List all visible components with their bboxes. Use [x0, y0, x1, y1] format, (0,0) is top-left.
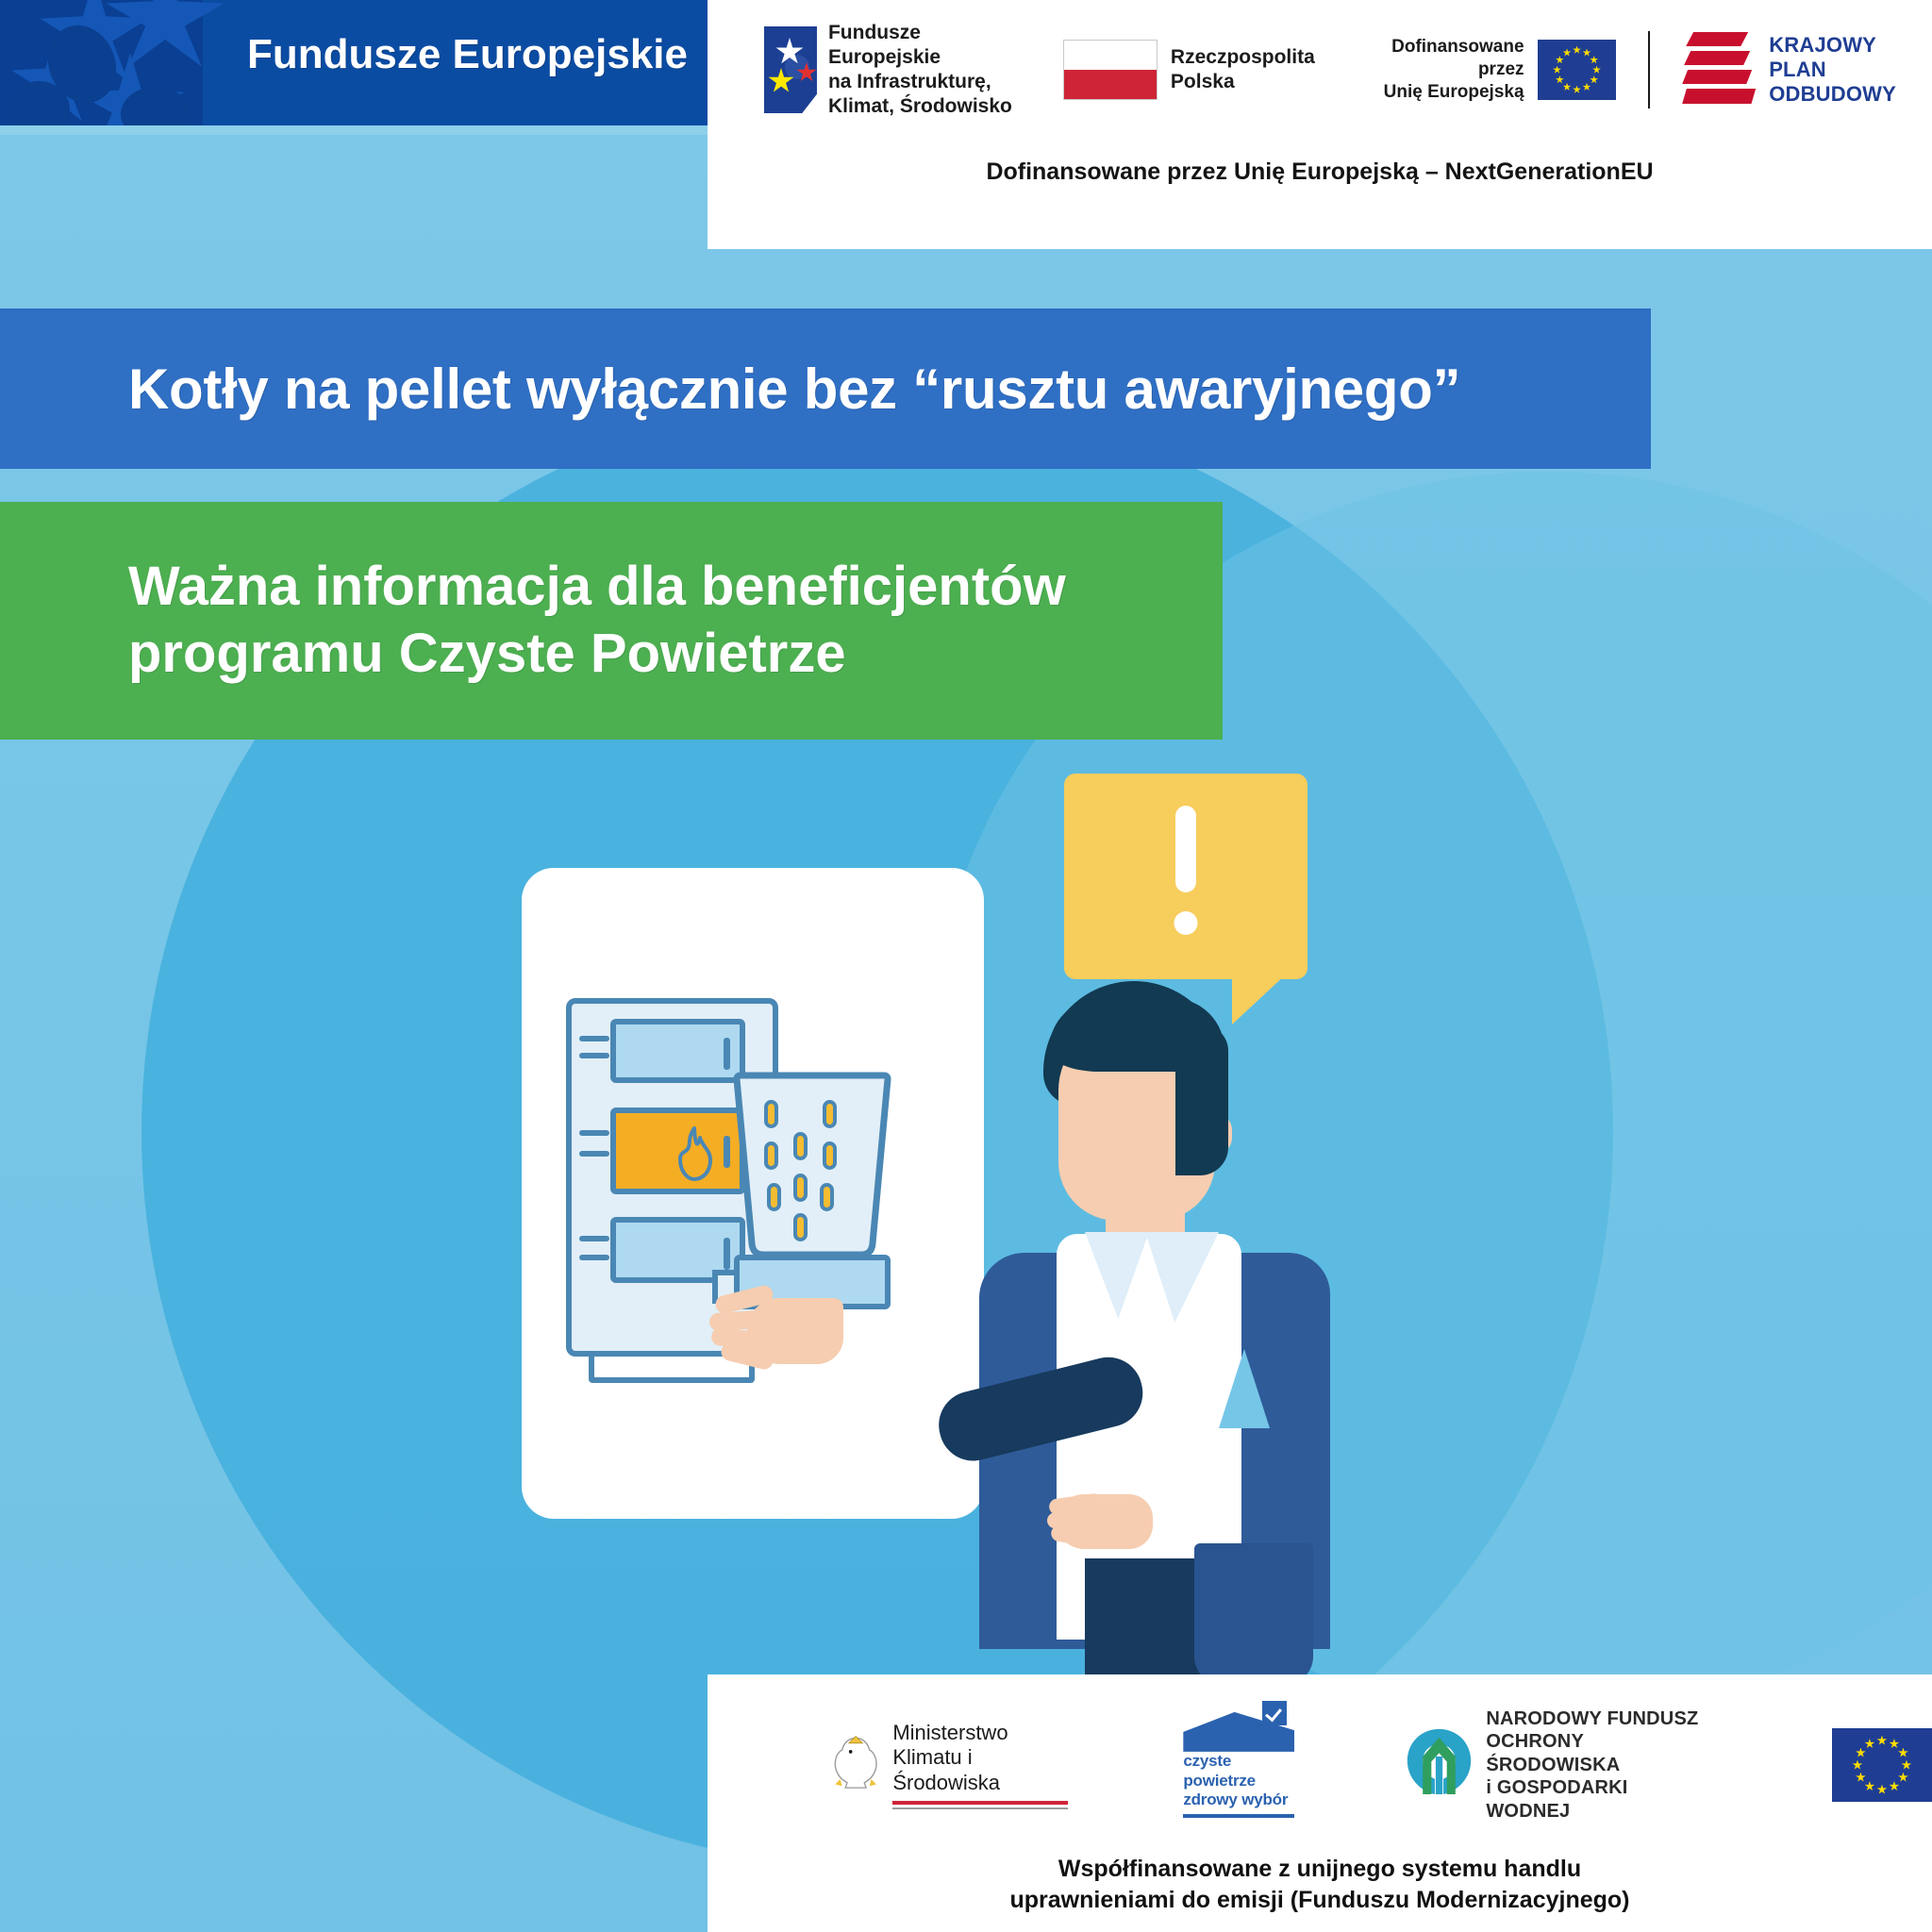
eu-flag-logo — [1832, 1728, 1932, 1802]
eu-star-icon — [1583, 83, 1591, 92]
headline-green-line1: Ważna informacja dla beneficjentów — [128, 554, 1223, 621]
czyste-powietrze-line2: zdrowy wybór — [1183, 1790, 1294, 1810]
eu-star-icon — [1876, 1736, 1887, 1746]
eu-star-icon — [1563, 48, 1572, 57]
czyste-powietrze-line1: czyste powietrze — [1183, 1752, 1294, 1790]
eu-star-icon — [1556, 56, 1564, 64]
eu-star-icon — [1592, 66, 1601, 75]
header-logo-panel: Fundusze Europejskie na Infrastrukturę, … — [708, 0, 1932, 249]
header-logo-row: Fundusze Europejskie na Infrastrukturę, … — [764, 17, 1896, 123]
eu-star-icon — [1573, 86, 1581, 94]
polish-eagle-icon — [828, 1731, 883, 1799]
pellet — [764, 1141, 778, 1170]
hair-side — [1175, 1024, 1228, 1175]
eu-star-icon — [1852, 1760, 1862, 1771]
eu-star-icon — [1583, 48, 1591, 57]
logo-divider — [1648, 31, 1650, 108]
headline-banner-blue: Kotły na pellet wyłącznie bez “rusztu aw… — [0, 308, 1651, 469]
eu-star-icon — [1864, 1781, 1874, 1791]
eu-star-icon — [1563, 83, 1572, 92]
check-icon — [1262, 1701, 1287, 1725]
footer-panel: Ministerstwo Klimatu i Środowiska czyste… — [708, 1674, 1932, 1932]
rzeczpospolita-polska-logo: Rzeczpospolita Polska — [1063, 40, 1315, 100]
poland-flag-icon — [1063, 40, 1158, 100]
pellet — [793, 1132, 808, 1160]
nfosigw-mark-icon — [1406, 1727, 1473, 1803]
headline-blue-text: Kotły na pellet wyłącznie bez “rusztu aw… — [128, 357, 1460, 422]
eu-star-icon — [1898, 1773, 1908, 1783]
nextgeneration-eu-note: Dofinansowane przez Unię Europejską – Ne… — [708, 158, 1932, 186]
ministerstwo-klimatu-label: Ministerstwo Klimatu i Środowiska — [892, 1721, 1068, 1795]
pellet — [820, 1183, 834, 1211]
boiler-fire-panel — [610, 1108, 745, 1194]
kpo-mark-icon — [1682, 30, 1756, 109]
czyste-powietrze-logo: czyste powietrze zdrowy wybór — [1183, 1712, 1294, 1818]
pellet — [823, 1100, 837, 1128]
boiler-upper-panel — [610, 1019, 745, 1083]
exclamation-speech-bubble — [1064, 774, 1307, 979]
pellet — [793, 1213, 808, 1241]
krajowy-plan-odbudowy-logo: KRAJOWY PLAN ODBUDOWY — [1682, 30, 1896, 109]
eu-star-icon — [1856, 1748, 1866, 1758]
nfosigw-label: NARODOWY FUNDUSZ OCHRONY ŚRODOWISKA i GO… — [1486, 1707, 1702, 1823]
brand-bar: Fundusze Europejskie — [0, 0, 708, 125]
fundusze-europejskie-logo-label: Fundusze Europejskie na Infrastrukturę, … — [828, 21, 1012, 120]
eu-flag-icon — [1538, 40, 1617, 100]
eu-star-icon — [1856, 1773, 1866, 1783]
man-pointing-illustration — [943, 981, 1340, 1679]
pointing-hand — [708, 1274, 849, 1377]
rzeczpospolita-polska-logo-label: Rzeczpospolita Polska — [1171, 45, 1315, 95]
footer-logo-row: Ministerstwo Klimatu i Środowiska czyste… — [708, 1708, 1932, 1822]
krajowy-plan-odbudowy-label: KRAJOWY PLAN ODBUDOWY — [1769, 33, 1896, 107]
nfosigw-logo: NARODOWY FUNDUSZ OCHRONY ŚRODOWISKA i GO… — [1406, 1707, 1702, 1823]
footer-note: Współfinansowane z unijnego systemu hand… — [708, 1854, 1932, 1915]
dofinansowane-ue-logo: Dofinansowane przez Unię Europejską — [1364, 36, 1617, 103]
brand-bar-label: Fundusze Europejskie — [247, 31, 688, 78]
eu-star-icon — [1889, 1781, 1899, 1791]
eu-star-icon — [1590, 75, 1598, 84]
flame-icon — [675, 1126, 714, 1181]
ministerstwo-rule — [892, 1801, 1068, 1805]
eu-star-icon — [1553, 66, 1561, 75]
ministerstwo-klimatu-logo: Ministerstwo Klimatu i Środowiska — [828, 1721, 1068, 1809]
headline-banner-green: Ważna informacja dla beneficjentów progr… — [0, 502, 1223, 740]
dofinansowane-ue-logo-label: Dofinansowane przez Unię Europejską — [1364, 36, 1524, 103]
brand-bar-underline — [0, 125, 708, 135]
boiler-hopper — [731, 1072, 893, 1260]
eu-star-icon — [1901, 1760, 1911, 1771]
pellet — [767, 1183, 781, 1211]
brand-bar-decoration — [0, 0, 203, 125]
exclamation-bar-icon — [1175, 806, 1196, 892]
pellet — [823, 1141, 837, 1170]
pellet — [764, 1100, 778, 1128]
czyste-powietrze-rule — [1183, 1814, 1294, 1818]
eu-star-icon — [1556, 75, 1564, 84]
eu-star-icon — [1889, 1739, 1899, 1749]
headline-green-line2: programu Czyste Powietrze — [128, 621, 1223, 688]
eu-star-icon — [1573, 46, 1581, 55]
exclamation-dot-icon — [1174, 911, 1198, 935]
eu-star-icon — [1590, 56, 1598, 64]
jacket-pocket — [1194, 1543, 1313, 1685]
pellet — [793, 1174, 808, 1202]
eu-star-icon — [1876, 1785, 1887, 1795]
eu-star-icon — [1898, 1748, 1908, 1758]
eu-star-icon — [1864, 1739, 1874, 1749]
resting-hand — [1047, 1481, 1160, 1553]
fundusze-europejskie-logo: Fundusze Europejskie na Infrastrukturę, … — [764, 21, 1012, 120]
poster-root: Fundusze Europejskie na Infrastrukturę, … — [0, 0, 1932, 1932]
ministerstwo-rule-2 — [892, 1807, 1068, 1809]
fundusze-europejskie-flag-icon — [764, 26, 817, 113]
